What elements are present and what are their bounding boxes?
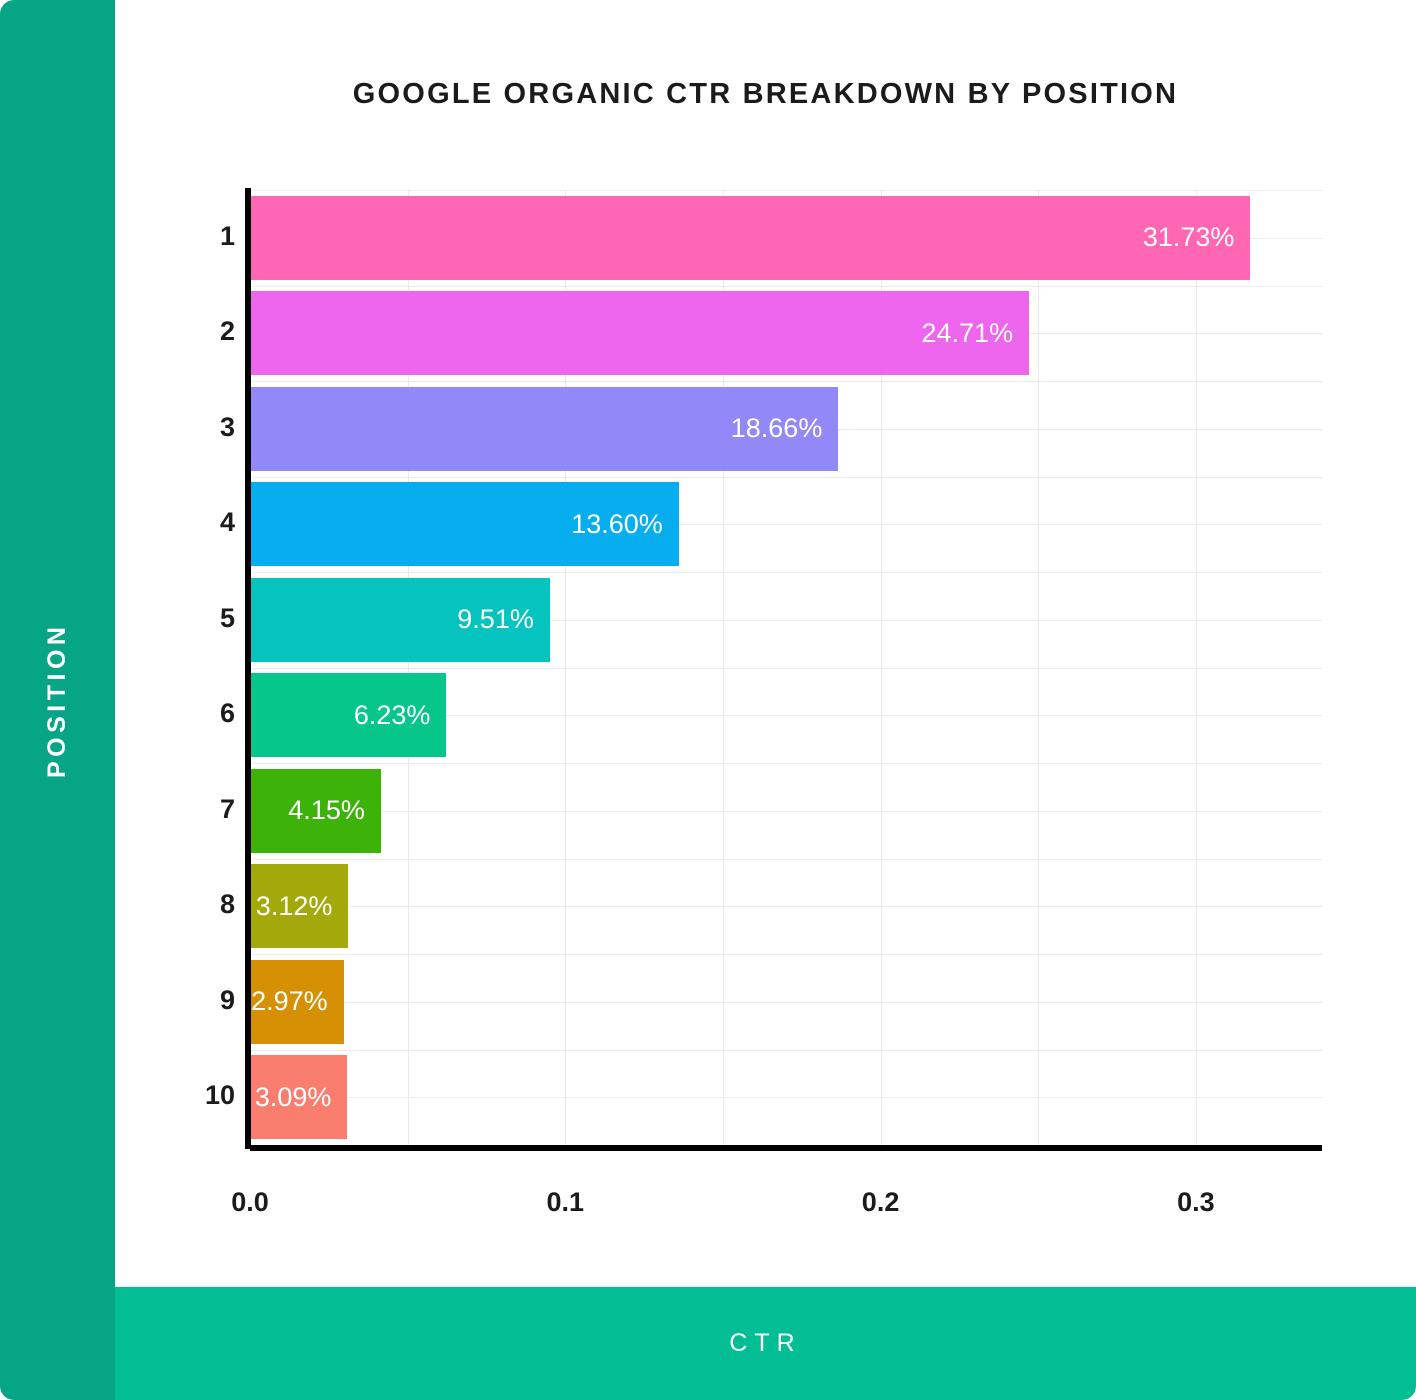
y-axis-title: POSITION bbox=[0, 0, 115, 1400]
gridline-horizontal bbox=[250, 572, 1322, 573]
bar-position-6[interactable]: 6.23% bbox=[250, 673, 446, 757]
gridline-horizontal bbox=[250, 668, 1322, 669]
y-axis-tick-1: 1 bbox=[125, 221, 235, 252]
chart-canvas: GOOGLE ORGANIC CTR BREAKDOWN BY POSITION… bbox=[115, 0, 1416, 1287]
y-axis-tick-3: 3 bbox=[125, 412, 235, 443]
x-axis-tick-0.0: 0.0 bbox=[170, 1187, 330, 1218]
bar-value-label: 24.71% bbox=[922, 318, 1030, 349]
x-axis-tick-0.1: 0.1 bbox=[485, 1187, 645, 1218]
gridline-horizontal bbox=[250, 906, 1322, 907]
y-axis-tick-4: 4 bbox=[125, 507, 235, 538]
bar-value-label: 9.51% bbox=[457, 604, 550, 635]
gridline-horizontal bbox=[250, 190, 1322, 191]
y-axis-tick-9: 9 bbox=[125, 985, 235, 1016]
bar-position-10[interactable]: 3.09% bbox=[250, 1055, 347, 1139]
x-axis-title: CTR bbox=[729, 1329, 801, 1358]
bar-position-1[interactable]: 31.73% bbox=[250, 196, 1250, 280]
gridline-horizontal bbox=[250, 1097, 1322, 1098]
y-axis-tick-2: 2 bbox=[125, 316, 235, 347]
x-axis-tick-0.3: 0.3 bbox=[1116, 1187, 1276, 1218]
y-axis-tick-8: 8 bbox=[125, 889, 235, 920]
bar-value-label: 18.66% bbox=[731, 413, 839, 444]
bar-value-label: 6.23% bbox=[354, 700, 447, 731]
bar-position-2[interactable]: 24.71% bbox=[250, 291, 1029, 375]
x-axis-line bbox=[250, 1145, 1322, 1151]
bar-position-9[interactable]: 2.97% bbox=[250, 960, 344, 1044]
y-axis-line bbox=[245, 188, 251, 1149]
y-axis-tick-10: 10 bbox=[125, 1080, 235, 1111]
gridline-horizontal bbox=[250, 1050, 1322, 1051]
bar-value-label: 13.60% bbox=[571, 509, 679, 540]
bar-value-label: 3.09% bbox=[255, 1082, 348, 1113]
bar-position-3[interactable]: 18.66% bbox=[250, 387, 838, 471]
x-axis-tick-0.2: 0.2 bbox=[801, 1187, 961, 1218]
bar-position-7[interactable]: 4.15% bbox=[250, 769, 381, 853]
bar-position-8[interactable]: 3.12% bbox=[250, 864, 348, 948]
gridline-horizontal bbox=[250, 859, 1322, 860]
gridline-horizontal bbox=[250, 1002, 1322, 1003]
y-axis-tick-5: 5 bbox=[125, 603, 235, 634]
gridline-horizontal bbox=[250, 286, 1322, 287]
chart-card: POSITION GOOGLE ORGANIC CTR BREAKDOWN BY… bbox=[0, 0, 1416, 1400]
x-axis-title-band: CTR bbox=[115, 1287, 1416, 1400]
gridline-horizontal bbox=[250, 381, 1322, 382]
bar-value-label: 31.73% bbox=[1143, 222, 1251, 253]
chart-title: GOOGLE ORGANIC CTR BREAKDOWN BY POSITION bbox=[115, 78, 1416, 111]
y-axis-tick-6: 6 bbox=[125, 698, 235, 729]
bar-value-label: 3.12% bbox=[256, 891, 349, 922]
gridline-horizontal bbox=[250, 811, 1322, 812]
gridline-horizontal bbox=[250, 477, 1322, 478]
gridline-horizontal bbox=[250, 954, 1322, 955]
bar-position-5[interactable]: 9.51% bbox=[250, 578, 550, 662]
y-axis-tick-labels: 12345678910 bbox=[115, 190, 235, 1145]
bar-value-label: 2.97% bbox=[251, 986, 344, 1017]
y-axis-tick-7: 7 bbox=[125, 794, 235, 825]
plot-area: 31.73%24.71%18.66%13.60%9.51%6.23%4.15%3… bbox=[250, 190, 1322, 1145]
bar-value-label: 4.15% bbox=[288, 795, 381, 826]
gridline-horizontal bbox=[250, 763, 1322, 764]
y-axis-title-band: POSITION bbox=[0, 0, 115, 1400]
bar-position-4[interactable]: 13.60% bbox=[250, 482, 679, 566]
